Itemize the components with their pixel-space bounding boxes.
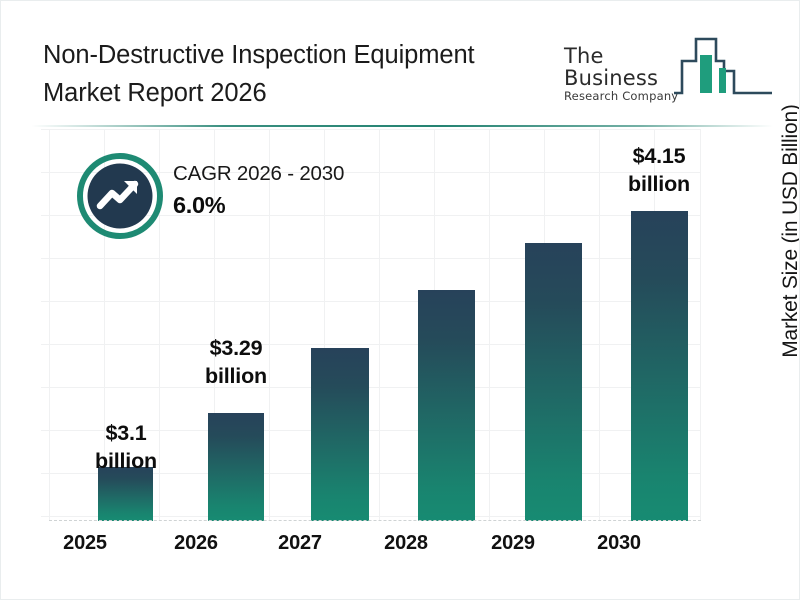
bar-2027 bbox=[311, 348, 369, 521]
cagr-value-label: 6.0% bbox=[173, 188, 413, 222]
bar-chart-logo-mark-icon bbox=[672, 31, 776, 101]
x-axis-label-2030: 2030 bbox=[559, 532, 679, 555]
x-axis-label-2028: 2028 bbox=[346, 532, 466, 555]
cagr-annotation: CAGR 2026 - 2030 6.0% bbox=[77, 153, 407, 257]
cagr-period-label: CAGR 2026 - 2030 bbox=[173, 160, 413, 188]
bar-2030 bbox=[631, 211, 688, 521]
bar-2029 bbox=[525, 243, 582, 521]
value-label-2030: $4.15 billion bbox=[599, 142, 719, 199]
page-title: Non-Destructive Inspection Equipment Mar… bbox=[43, 37, 563, 112]
value-label-2026: $3.29 billion bbox=[176, 334, 296, 391]
value-label-2025: $3.1 billion bbox=[66, 419, 186, 476]
bar-2028 bbox=[418, 290, 475, 521]
x-axis-label-2029: 2029 bbox=[453, 532, 573, 555]
x-axis-label-2025: 2025 bbox=[25, 532, 145, 555]
x-axis-label-2027: 2027 bbox=[240, 532, 360, 555]
y-axis-title: Market Size (in USD Billion) bbox=[779, 86, 800, 376]
cagr-text-block: CAGR 2026 - 2030 6.0% bbox=[173, 160, 413, 222]
header: Non-Destructive Inspection Equipment Mar… bbox=[1, 1, 800, 127]
bar-2026 bbox=[208, 413, 264, 521]
chart-page: Non-Destructive Inspection Equipment Mar… bbox=[0, 0, 800, 600]
x-axis-label-2026: 2026 bbox=[136, 532, 256, 555]
company-logo: The Business Research Company bbox=[564, 31, 776, 103]
trending-up-icon bbox=[77, 153, 163, 239]
header-divider bbox=[31, 125, 773, 127]
x-axis-line bbox=[49, 520, 701, 521]
